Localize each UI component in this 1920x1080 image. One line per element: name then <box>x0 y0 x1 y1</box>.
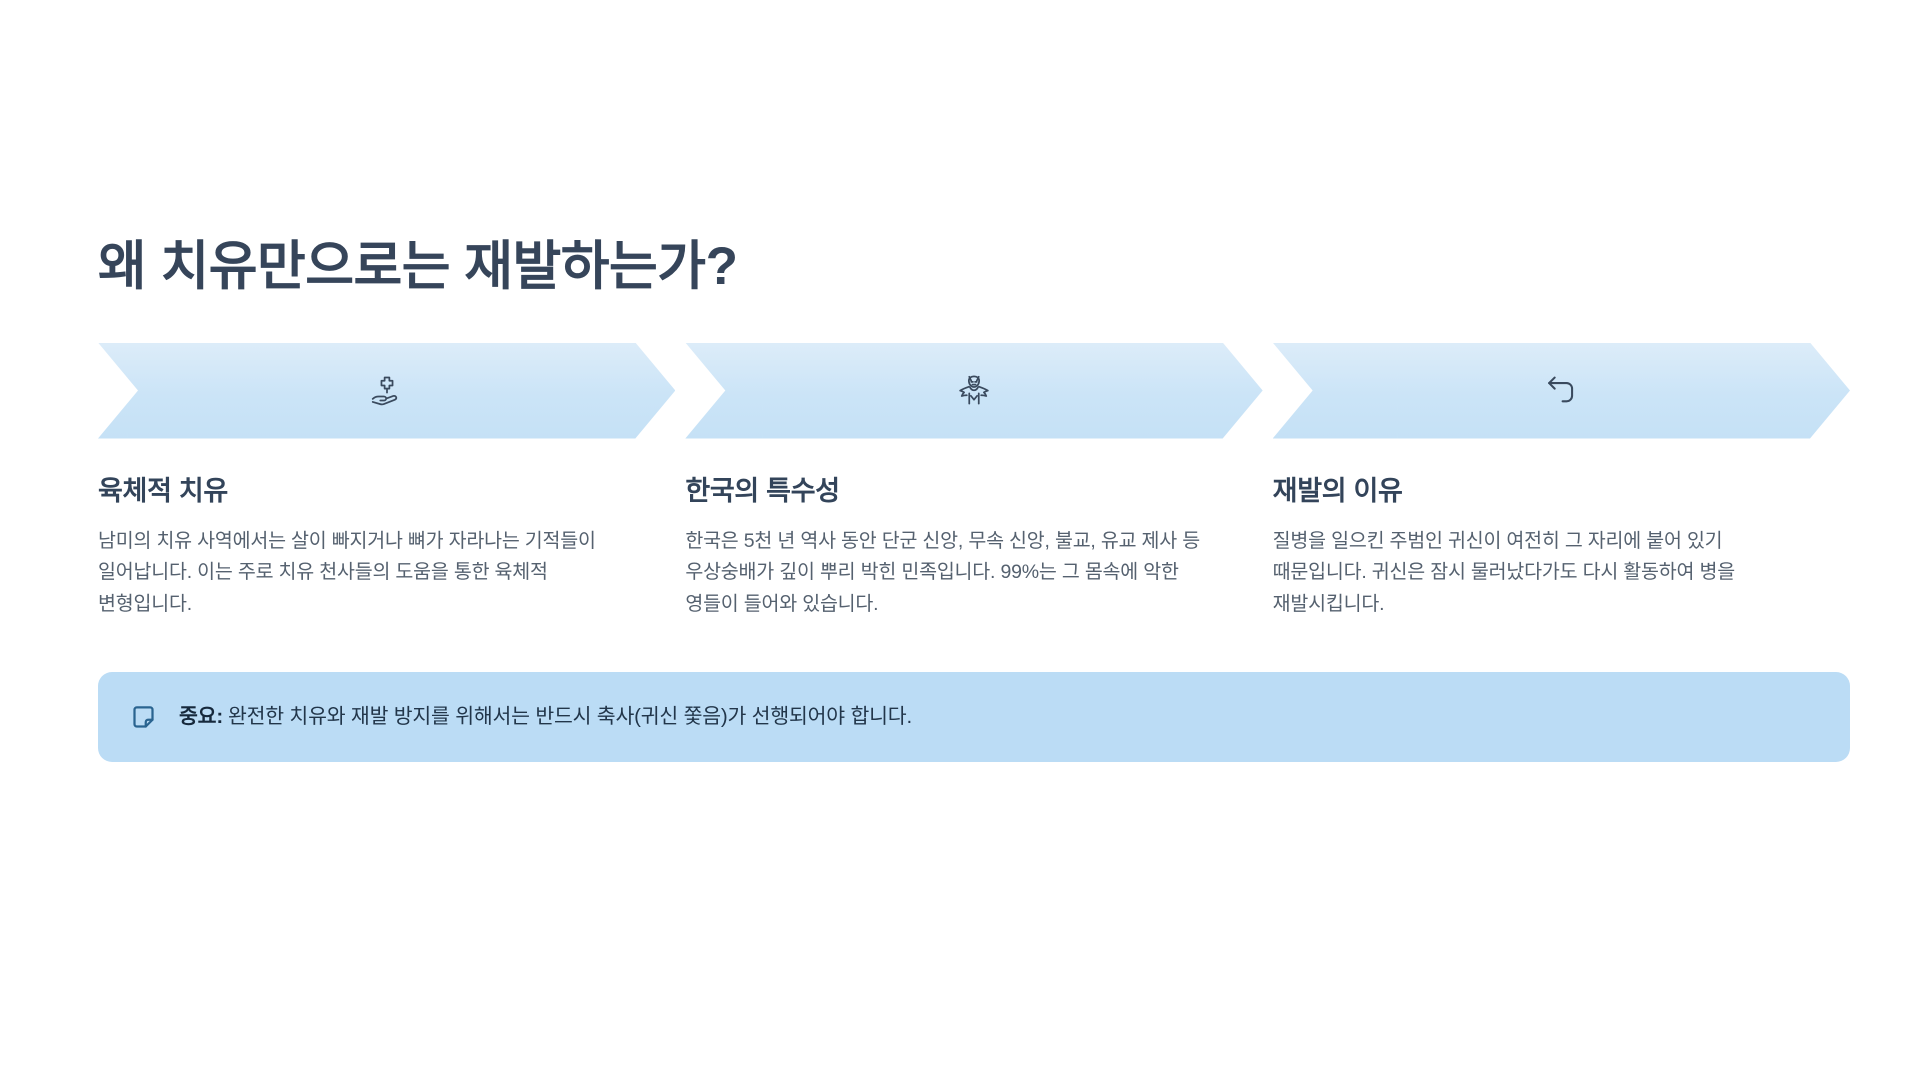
step-cards: 육체적 치유 남미의 치유 사역에서는 살이 빠지거나 뼈가 자라나는 기적들이… <box>98 469 1850 621</box>
undo-arrow-icon <box>1542 372 1580 410</box>
slide-content: 왜 치유만으로는 재발하는가? <box>98 236 1850 762</box>
callout-message: 완전한 치유와 재발 방지를 위해서는 반드시 축사(귀신 쫓음)가 선행되어야… <box>228 705 912 728</box>
callout-text-wrapper: 중요:완전한 치유와 재발 방지를 위해서는 반드시 축사(귀신 쫓음)가 선행… <box>179 703 912 732</box>
step-card-body: 남미의 치유 사역에서는 살이 빠지거나 뼈가 자라나는 기적들이 일어납니다.… <box>98 526 635 621</box>
process-chevron-strip <box>98 343 1850 439</box>
step-card-title: 육체적 치유 <box>98 469 635 508</box>
slide-root: 왜 치유만으로는 재발하는가? <box>0 0 1920 1080</box>
chevron-step-3[interactable] <box>1273 343 1850 439</box>
chevron-step-2[interactable] <box>685 343 1262 439</box>
hand-holding-medical-cross-icon <box>368 372 406 410</box>
step-card-body: 질병을 일으킨 주범인 귀신이 여전히 그 자리에 붙어 있기 때문입니다. 귀… <box>1273 526 1810 621</box>
step-card-body: 한국은 5천 년 역사 동안 단군 신앙, 무속 신앙, 불교, 유교 제사 등… <box>685 526 1222 621</box>
step-card-3: 재발의 이유 질병을 일으킨 주범인 귀신이 여전히 그 자리에 붙어 있기 때… <box>1273 469 1850 621</box>
demon-icon <box>955 372 993 410</box>
chevron-step-1[interactable] <box>98 343 675 439</box>
important-callout-banner: 중요:완전한 치유와 재발 방지를 위해서는 반드시 축사(귀신 쫓음)가 선행… <box>98 672 1850 762</box>
step-card-title: 재발의 이유 <box>1273 469 1810 508</box>
page-title: 왜 치유만으로는 재발하는가? <box>98 236 1850 299</box>
sticky-note-icon <box>130 704 157 731</box>
step-card-title: 한국의 특수성 <box>685 469 1222 508</box>
step-card-1: 육체적 치유 남미의 치유 사역에서는 살이 빠지거나 뼈가 자라나는 기적들이… <box>98 469 675 621</box>
callout-label: 중요: <box>179 705 223 728</box>
step-card-2: 한국의 특수성 한국은 5천 년 역사 동안 단군 신앙, 무속 신앙, 불교,… <box>685 469 1262 621</box>
